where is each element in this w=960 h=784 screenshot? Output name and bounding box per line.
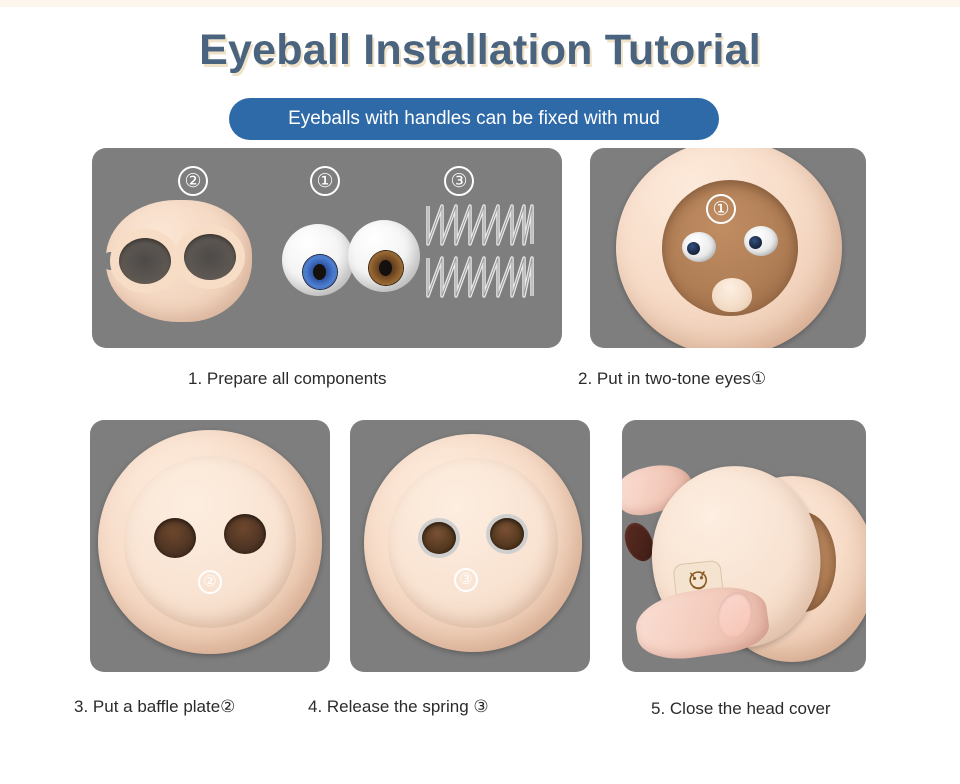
badge-baffle-plate: ② <box>178 166 208 196</box>
step-2-photo: ① <box>590 148 866 348</box>
inserted-eye-left-pupil <box>687 242 700 255</box>
step-1-photo: ② ① ③ <box>92 148 562 348</box>
step-4-photo: ③ <box>350 420 590 672</box>
badge-springs: ③ <box>444 166 474 196</box>
plate-hole-left <box>154 518 196 558</box>
eyeball-brown-part <box>348 220 420 292</box>
doll-head-with-springs <box>364 434 582 652</box>
baffle-socket-right <box>184 234 236 280</box>
step-3-photo-content: ② <box>90 420 330 672</box>
page-title: Eyeball Installation Tutorial <box>0 26 960 75</box>
doll-nose <box>712 278 752 312</box>
spring-coils-icon <box>424 198 539 308</box>
finger-lower <box>632 581 772 665</box>
pupil-brown <box>379 260 392 276</box>
banner-note-label: Eyeballs with handles can be fixed with … <box>288 108 660 130</box>
badge-eyeballs: ① <box>310 166 340 196</box>
step-3-photo: ② <box>90 420 330 672</box>
step-5-photo-content <box>622 420 866 672</box>
step-1-caption: 1. Prepare all components <box>188 369 386 389</box>
plate-surface <box>388 458 558 628</box>
plate-hole-right <box>224 514 266 554</box>
installed-baffle-plate <box>124 456 296 628</box>
pupil-blue <box>313 264 326 280</box>
doll-head-with-plate <box>98 430 322 654</box>
step-2-photo-content: ① <box>590 148 866 348</box>
baffle-plate-part <box>106 200 252 322</box>
step-4-caption: 4. Release the spring ③ <box>308 697 489 717</box>
step-5-photo <box>622 420 866 672</box>
step-3-caption: 3. Put a baffle plate② <box>74 697 235 717</box>
step-2-caption: 2. Put in two-tone eyes① <box>578 369 766 389</box>
springs-part <box>424 198 539 313</box>
eyeball-blue-part <box>282 224 354 296</box>
doll-head-open <box>616 148 842 348</box>
step-5-caption: 5. Close the head cover <box>651 699 831 719</box>
inserted-eye-right-pupil <box>749 236 762 249</box>
step-4-photo-content: ③ <box>350 420 590 672</box>
top-accent-strip <box>0 0 960 7</box>
badge-step-2: ① <box>706 194 736 224</box>
inserted-eye-right <box>744 226 778 256</box>
step-1-photo-content: ② ① ③ <box>92 148 562 348</box>
inserted-eye-left <box>682 232 716 262</box>
banner-note: Eyeballs with handles can be fixed with … <box>229 98 719 140</box>
spring-hole-left <box>422 522 456 554</box>
baffle-notch <box>103 252 117 270</box>
badge-step-3: ② <box>198 570 222 594</box>
baffle-socket-left <box>119 238 171 284</box>
badge-step-4: ③ <box>454 568 478 592</box>
spring-hole-right <box>490 518 524 550</box>
